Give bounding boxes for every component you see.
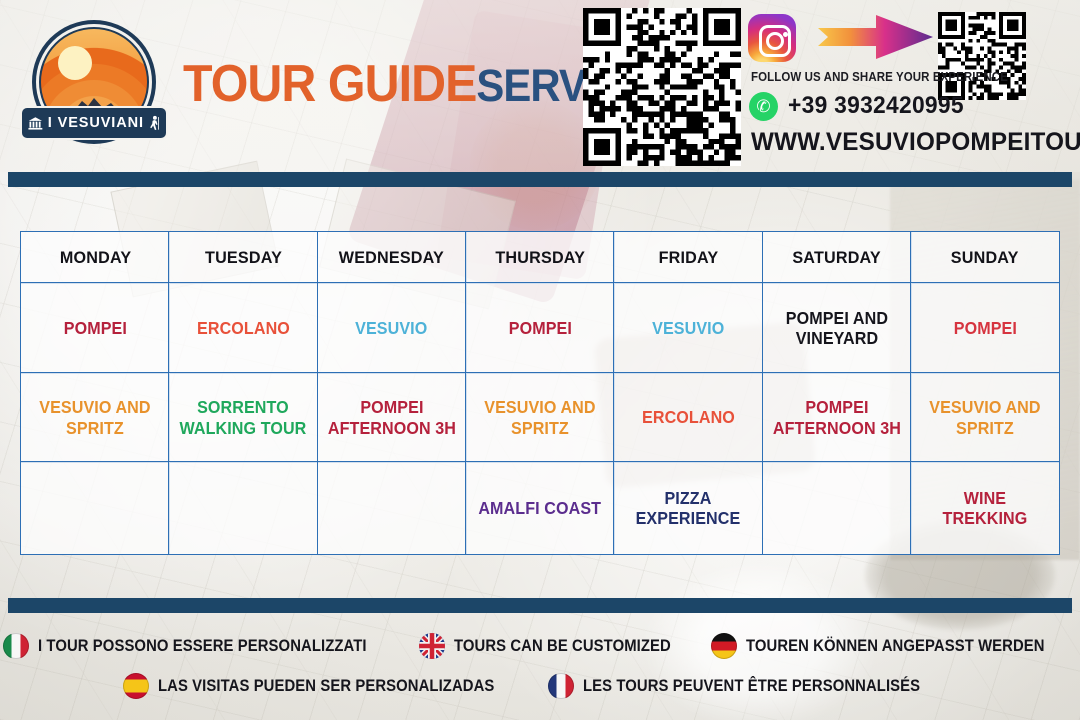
tour-label: POMPEI: [508, 318, 571, 338]
logo-brand-name: I VESUVIANI: [48, 115, 144, 131]
logo-name-ribbon: I VESUVIANI: [20, 106, 168, 140]
uk-flag: [419, 633, 445, 659]
schedule-cell-tour[interactable]: POMPEI: [910, 282, 1060, 374]
tour-label: SORRENTO WALKING TOUR: [179, 397, 308, 438]
hiker-icon: [149, 113, 160, 133]
footer-language-item: TOURS CAN BE CUSTOMIZED: [419, 633, 695, 659]
sun-icon: [58, 46, 92, 80]
tour-label: VESUVIO: [356, 318, 428, 338]
spain-flag: [123, 673, 149, 699]
footer-language-row-2: LAS VISITAS PUEDEN SER PERSONALIZADASLES…: [123, 673, 957, 699]
schedule-cell-tour[interactable]: ERCOLANO: [613, 372, 763, 463]
footer-language-label: LAS VISITAS PUEDEN SER PERSONALIZADAS: [158, 677, 494, 696]
footer-language-label: LES TOURS PEUVENT ÊTRE PERSONNALISÉS: [583, 677, 920, 696]
schedule-cell-empty: [317, 461, 467, 555]
tour-label: POMPEI AFTERNOON 3H: [772, 397, 901, 438]
schedule-cell-tour[interactable]: VESUVIO: [317, 282, 467, 374]
tour-label: ERCOLANO: [197, 318, 290, 338]
schedule-cell-empty: [20, 461, 170, 555]
schedule-cell-tour[interactable]: POMPEI AND VINEYARD: [762, 282, 912, 374]
tour-label: PIZZA EXPERIENCE: [624, 488, 753, 529]
table-header-label: SATURDAY: [792, 248, 881, 268]
divider-bar-top: [8, 172, 1072, 187]
table-header-saturday: SATURDAY: [762, 231, 912, 284]
schedule-cell-tour[interactable]: PIZZA EXPERIENCE: [613, 461, 763, 555]
table-header-label: FRIDAY: [658, 248, 718, 268]
qr-code-left[interactable]: [583, 8, 741, 166]
footer-language-label: I TOUR POSSONO ESSERE PERSONALIZZATI: [38, 637, 367, 656]
schedule-cell-tour[interactable]: ERCOLANO: [168, 282, 318, 374]
france-flag: [548, 673, 574, 699]
tour-label: VESUVIO AND SPRITZ: [31, 397, 160, 438]
table-header-thursday: THURSDAY: [465, 231, 615, 284]
tour-label: POMPEI AND VINEYARD: [772, 308, 901, 349]
schedule-cell-tour[interactable]: POMPEI: [20, 282, 170, 374]
divider-bar-bottom: [8, 598, 1072, 613]
footer-language-label: TOURS CAN BE CUSTOMIZED: [454, 637, 671, 656]
instagram-icon[interactable]: [748, 14, 796, 62]
table-header-label: THURSDAY: [495, 248, 585, 268]
schedule-cell-tour[interactable]: VESUVIO AND SPRITZ: [20, 372, 170, 463]
table-header-friday: FRIDAY: [613, 231, 763, 284]
gradient-arrow-icon: [818, 14, 933, 60]
tour-label: POMPEI: [953, 318, 1016, 338]
temple-icon: [28, 115, 43, 132]
table-header-label: SUNDAY: [951, 248, 1019, 268]
qr-code-right[interactable]: [938, 12, 1026, 100]
schedule-cell-tour[interactable]: SORRENTO WALKING TOUR: [168, 372, 318, 463]
schedule-cell-empty: [168, 461, 318, 555]
tour-label: POMPEI: [64, 318, 127, 338]
table-header-sunday: SUNDAY: [910, 231, 1060, 284]
brand-logo: I VESUVIANI: [20, 20, 168, 146]
footer-language-label: TOUREN KÖNNEN ANGEPASST WERDEN: [746, 637, 1045, 656]
table-header-label: MONDAY: [59, 248, 130, 268]
schedule-cell-tour[interactable]: VESUVIO AND SPRITZ: [465, 372, 615, 463]
tour-label: VESUVIO: [652, 318, 724, 338]
table-header-label: WEDNESDAY: [339, 248, 444, 268]
schedule-cell-tour[interactable]: POMPEI AFTERNOON 3H: [317, 372, 467, 463]
whatsapp-glyph: ✆: [756, 98, 770, 115]
table-header-tuesday: TUESDAY: [168, 231, 318, 284]
schedule-cell-empty: [762, 461, 912, 555]
schedule-cell-tour[interactable]: VESUVIO AND SPRITZ: [910, 372, 1060, 463]
tour-label: VESUVIO AND SPRITZ: [921, 397, 1050, 438]
poster-header: I VESUVIANI TOUR GUIDESERVICE: [0, 0, 1080, 172]
footer-language-item: LES TOURS PEUVENT ÊTRE PERSONNALISÉS: [548, 673, 958, 699]
schedule-cell-tour[interactable]: POMPEI AFTERNOON 3H: [762, 372, 912, 463]
table-header-label: TUESDAY: [205, 248, 282, 268]
whatsapp-icon[interactable]: ✆: [749, 92, 778, 121]
tour-label: VESUVIO AND SPRITZ: [476, 397, 605, 438]
schedule-cell-tour[interactable]: AMALFI COAST: [465, 461, 615, 555]
follow-us-text: FOLLOW US AND SHARE YOUR EXPERIENCE: [751, 70, 1008, 84]
footer-language-row-1: I TOUR POSSONO ESSERE PERSONALIZZATITOUR…: [3, 633, 1078, 659]
schedule-cell-tour[interactable]: VESUVIO: [613, 282, 763, 374]
tour-label: POMPEI AFTERNOON 3H: [327, 397, 456, 438]
weekly-schedule-table: MONDAYTUESDAYWEDNESDAYTHURSDAYFRIDAYSATU…: [21, 232, 1059, 554]
instagram-lens-dot: [783, 32, 788, 37]
tour-label: WINE TREKKING: [921, 488, 1050, 529]
tour-guide-schedule-poster: I VESUVIANI TOUR GUIDESERVICE: [0, 0, 1080, 720]
poster-footer: I TOUR POSSONO ESSERE PERSONALIZZATITOUR…: [0, 612, 1080, 720]
title-primary: TOUR GUIDE: [183, 55, 476, 113]
phone-number[interactable]: +39 3932420995: [788, 92, 964, 120]
schedule-cell-tour[interactable]: POMPEI: [465, 282, 615, 374]
table-header-monday: MONDAY: [20, 231, 170, 284]
footer-language-item: I TOUR POSSONO ESSERE PERSONALIZZATI: [3, 633, 403, 659]
italy-flag: [3, 633, 29, 659]
footer-language-item: TOUREN KÖNNEN ANGEPASST WERDEN: [711, 633, 1078, 659]
germany-flag: [711, 633, 737, 659]
schedule-cell-tour[interactable]: WINE TREKKING: [910, 461, 1060, 555]
footer-language-item: LAS VISITAS PUEDEN SER PERSONALIZADAS: [123, 673, 532, 699]
tour-label: AMALFI COAST: [479, 498, 602, 518]
tour-label: ERCOLANO: [642, 407, 735, 427]
website-url[interactable]: WWW.VESUVIOPOMPEITOUR.COM: [751, 128, 1080, 157]
table-header-wednesday: WEDNESDAY: [317, 231, 467, 284]
